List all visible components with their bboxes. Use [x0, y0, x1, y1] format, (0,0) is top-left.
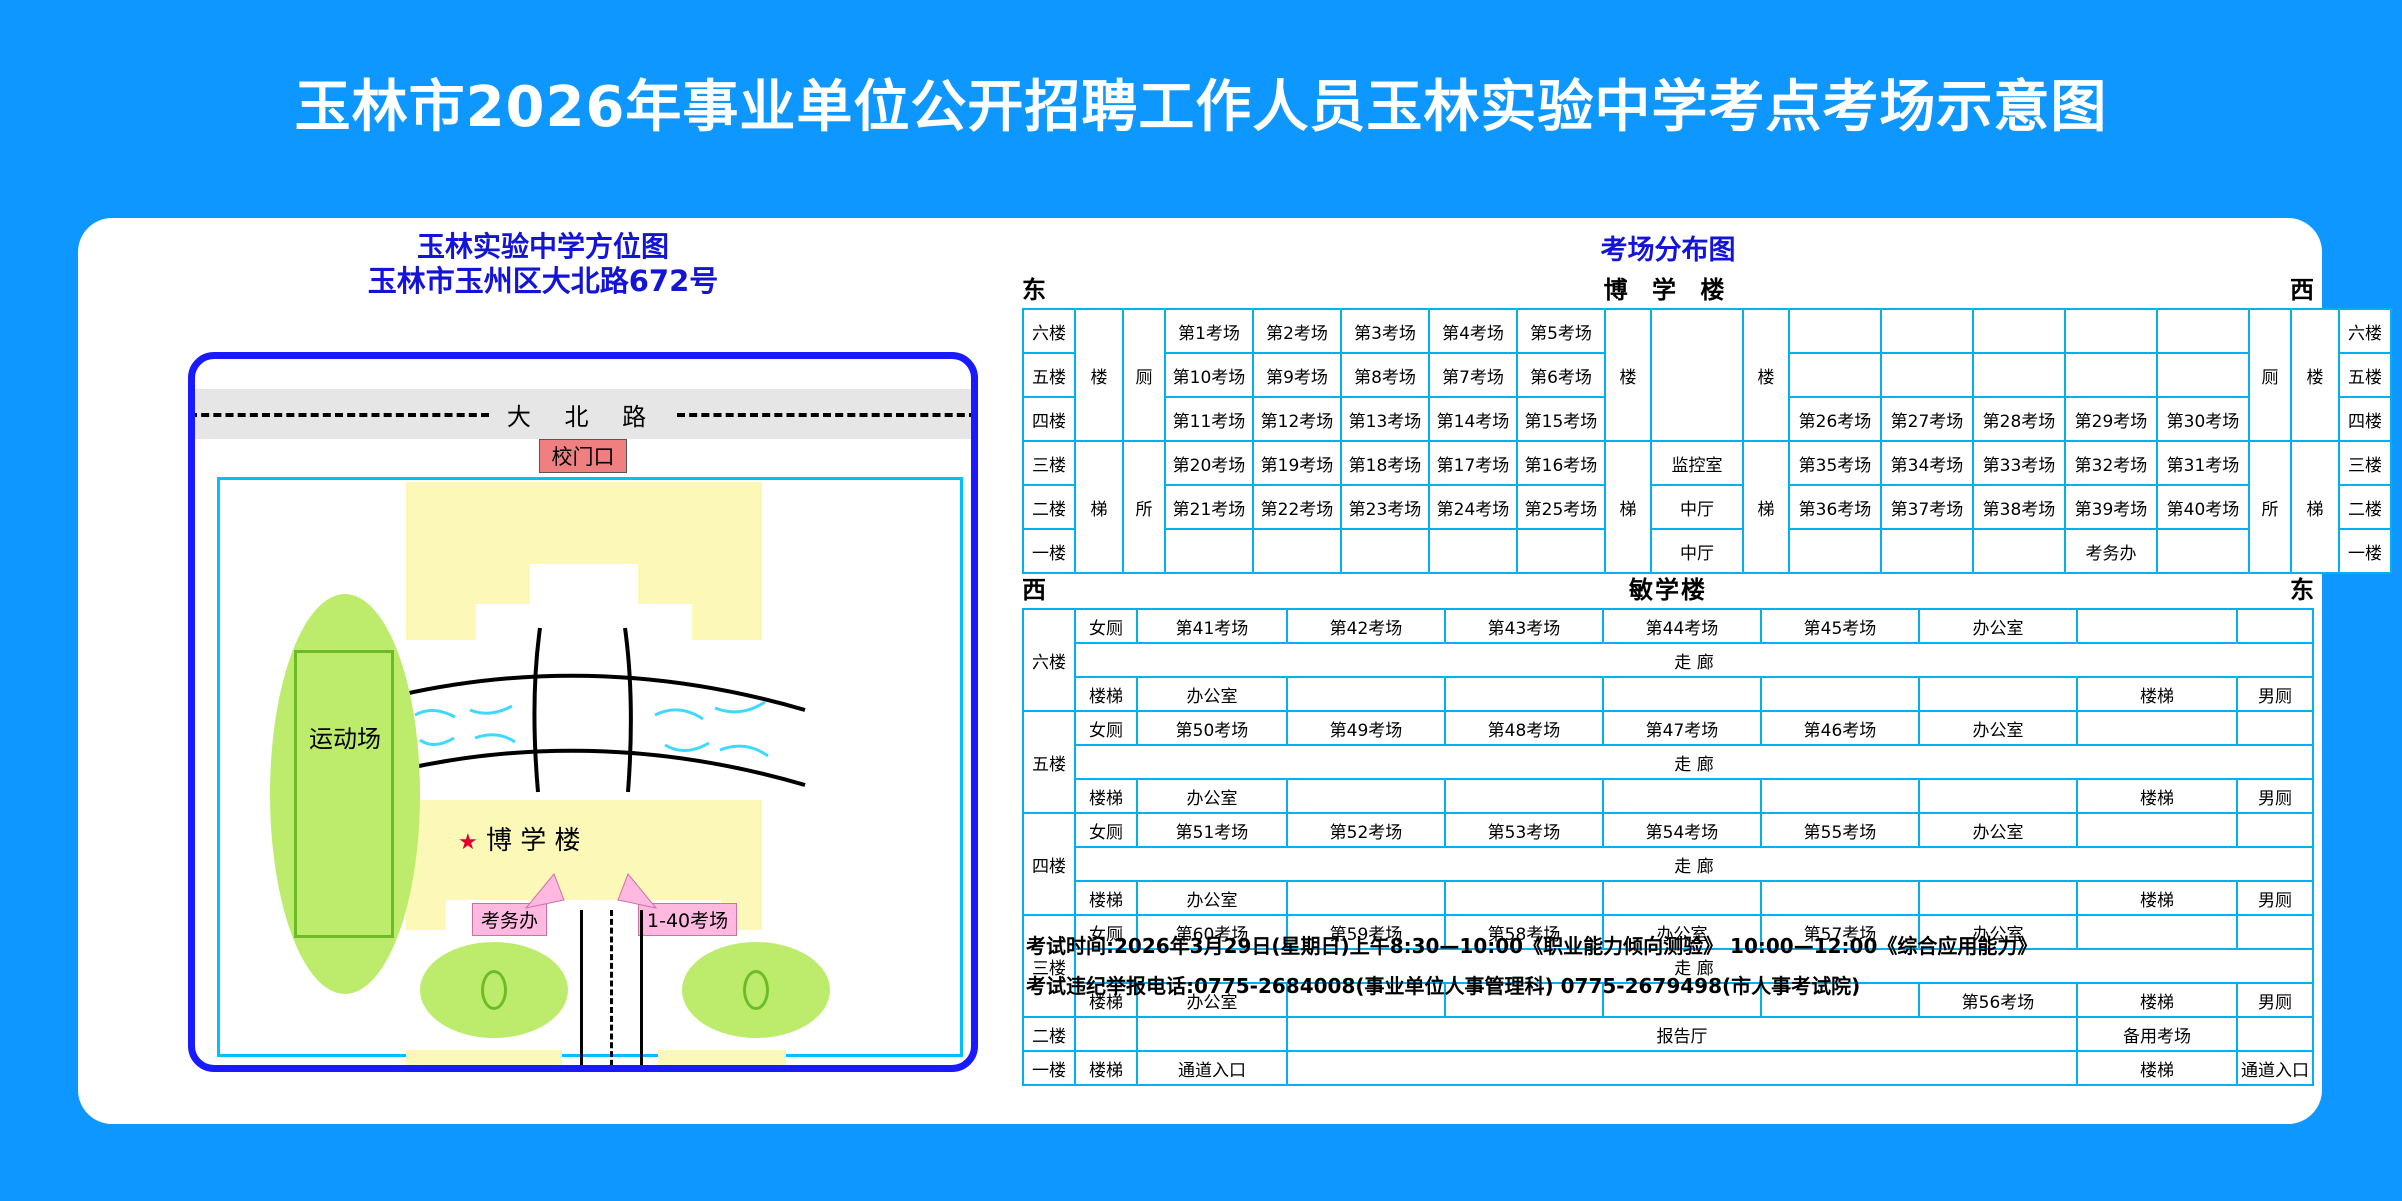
- boxue-floor-label-right: 六楼: [2339, 309, 2391, 353]
- boxue-room-cell: [1881, 529, 1973, 573]
- callout-kaowuban: 考务办: [472, 903, 547, 936]
- boxue-room-cell: 第18考场: [1341, 441, 1429, 485]
- minxue-back-cell: [1287, 779, 1445, 813]
- minxue-entrance-right: 通道入口: [2237, 1051, 2313, 1085]
- boxue-floor-label-left: 三楼: [1023, 441, 1075, 485]
- minxue-corridor-cell: 走 廊: [1075, 847, 2313, 881]
- boxue-room-cell: 第36考场: [1789, 485, 1881, 529]
- boxue-room-cell: 考务办: [2065, 529, 2157, 573]
- minxue-back-cell: [1919, 677, 2077, 711]
- boxue-room-cell: [2157, 309, 2249, 353]
- boxue-room-cell: [2157, 353, 2249, 397]
- boxue-room-cell: 第12考场: [1253, 397, 1341, 441]
- boxue-room-cell: 第13考场: [1341, 397, 1429, 441]
- boxue-room-cell: 第2考场: [1253, 309, 1341, 353]
- boxue-restroom-left: 所: [1123, 441, 1165, 573]
- boxue-room-cell: 第32考场: [2065, 441, 2157, 485]
- page-title: 玉林市2026年事业单位公开招聘工作人员玉林实验中学考点考场示意图: [0, 62, 2402, 143]
- minxue-floor-label: 二楼: [1023, 1017, 1075, 1051]
- minxue-back-cell: [1445, 677, 1603, 711]
- boxue-building-label: 博 学 楼: [1018, 270, 2318, 305]
- boxue-room-cell: 第7考场: [1429, 353, 1517, 397]
- boxue-room-cell: 第27考场: [1881, 397, 1973, 441]
- star-icon-boxue: ★: [458, 830, 478, 855]
- garden-oval-left: [420, 942, 568, 1038]
- building-block-south-left: [406, 1050, 562, 1072]
- minxue-room-cell: [2077, 915, 2237, 949]
- minxue-blank-cell: [1287, 1051, 2077, 1085]
- minxue-back-cell: 楼梯: [1075, 779, 1137, 813]
- minxue-back-cell: [1603, 677, 1761, 711]
- sports-field-inner: [294, 650, 394, 938]
- minxue-room-cell: 第46考场: [1761, 711, 1919, 745]
- minxue-building-label: 敏学楼: [1018, 570, 2318, 605]
- minxue-back-cell: 男厕: [2237, 677, 2313, 711]
- boxue-central-room: 中厅: [1651, 485, 1743, 529]
- boxue-floor-label-right: 三楼: [2339, 441, 2391, 485]
- boxue-room-cell: 第40考场: [2157, 485, 2249, 529]
- left-heading-line1: 玉林实验中学方位图: [78, 230, 1008, 264]
- minxue-room-cell: 第52考场: [1287, 813, 1445, 847]
- minxue-room-cell: [2237, 915, 2313, 949]
- minxue-back-cell: [1761, 881, 1919, 915]
- minxue-back-cell: 男厕: [2237, 779, 2313, 813]
- boxue-stairs-mid: 楼: [1605, 309, 1651, 441]
- minxue-room-cell: [2077, 813, 2237, 847]
- minxue-auditorium-cell: 报告厅: [1287, 1017, 2077, 1051]
- boxue-room-cell: [1789, 353, 1881, 397]
- boxue-room-cell: [1341, 529, 1429, 573]
- boxue-floor-label-left: 二楼: [1023, 485, 1075, 529]
- boxue-room-cell: [1253, 529, 1341, 573]
- minxue-stairs-right: 楼梯: [2077, 1051, 2237, 1085]
- boxue-stairs-left: 楼: [1075, 309, 1123, 441]
- minxue-room-cell: 第50考场: [1137, 711, 1287, 745]
- boxue-room-cell: 第38考场: [1973, 485, 2065, 529]
- right-panel: 考场分布图 东 博 学 楼 西 六楼楼厕第1考场第2考场第3考场第4考场第5考场…: [1018, 218, 2318, 1124]
- boxue-central-room: 监控室: [1651, 441, 1743, 485]
- minxue-back-cell: 男厕: [2237, 881, 2313, 915]
- boxue-room-cell: 第5考场: [1517, 309, 1605, 353]
- minxue-room-cell: 第48考场: [1445, 711, 1603, 745]
- campus-road-left-edge: [580, 910, 583, 1072]
- boxue-room-cell: [1789, 309, 1881, 353]
- campus-road-right-edge: [640, 910, 643, 1072]
- minxue-corridor-row: 走 廊: [1023, 643, 2313, 677]
- minxue-floor1-row: 一楼楼梯通道入口楼梯通道入口: [1023, 1051, 2313, 1085]
- left-heading-line2: 玉林市玉州区大北路672号: [78, 264, 1008, 298]
- minxue-room-cell: 女厕: [1075, 711, 1137, 745]
- boxue-room-cell: 第35考场: [1789, 441, 1881, 485]
- boxue-room-cell: 第8考场: [1341, 353, 1429, 397]
- boxue-floor-label-right: 五楼: [2339, 353, 2391, 397]
- boxue-room-cell: 第34考场: [1881, 441, 1973, 485]
- boxue-room-cell: 第10考场: [1165, 353, 1253, 397]
- boxue-floor-row: 一楼中厅考务办一楼: [1023, 529, 2391, 573]
- building-block-north-wing-right: [638, 564, 698, 604]
- minxue-blank-cell: [2237, 1017, 2313, 1051]
- content-card: 玉林实验中学方位图 玉林市玉州区大北路672号 大 北 路 校门口: [78, 218, 2322, 1124]
- minxue-back-cell: [1919, 881, 2077, 915]
- minxue-back-cell: 楼梯: [1075, 677, 1137, 711]
- boxue-central-empty: [1651, 309, 1743, 441]
- minxue-room-cell: [2237, 609, 2313, 643]
- minxue-back-row: 楼梯办公室楼梯男厕: [1023, 779, 2313, 813]
- garden-ring-left: [481, 970, 507, 1010]
- boxue-restroom-right: 所: [2249, 441, 2291, 573]
- school-gate-label: 校门口: [539, 439, 627, 473]
- boxue-room-cell: 第4考场: [1429, 309, 1517, 353]
- boxue-room-cell: [1165, 529, 1253, 573]
- building-block-north-wing-left: [470, 564, 530, 604]
- boxue-room-cell: 第29考场: [2065, 397, 2157, 441]
- minxue-floor-label: 五楼: [1023, 711, 1075, 813]
- boxue-room-cell: [2065, 309, 2157, 353]
- sports-field: 运动场: [270, 594, 420, 994]
- boxue-room-cell: 第20考场: [1165, 441, 1253, 485]
- minxue-room-cell: 第44考场: [1603, 609, 1761, 643]
- boxue-direction-right: 西: [2290, 270, 2314, 305]
- road-label: 大 北 路: [195, 389, 971, 439]
- minxue-back-cell: [1287, 677, 1445, 711]
- boxue-room-cell: 第28考场: [1973, 397, 2065, 441]
- minxue-back-cell: [1445, 779, 1603, 813]
- minxue-back-cell: 楼梯: [2077, 779, 2237, 813]
- minxue-floor-label: 一楼: [1023, 1051, 1075, 1085]
- minxue-floor-label: 四楼: [1023, 813, 1075, 915]
- boxue-room-cell: 第33考场: [1973, 441, 2065, 485]
- boxue-room-cell: 第39考场: [2065, 485, 2157, 529]
- minxue-back-cell: 男厕: [2237, 983, 2313, 1017]
- sports-field-label: 运动场: [270, 724, 420, 755]
- landscape-decoration: [390, 620, 810, 800]
- footer-exam-time: 考试时间:2026年3月29日(星期日)上午8:30—10:00《职业能力倾向测…: [1026, 930, 2037, 959]
- building-block-north-top: [406, 482, 762, 564]
- campus-boundary: ★ 博 学 楼 考务办 1-40考场 运动场: [217, 477, 963, 1057]
- minxue-floor2-row: 二楼报告厅备用考场: [1023, 1017, 2313, 1051]
- minxue-back-cell: [1603, 779, 1761, 813]
- minxue-blank-cell: [1075, 1017, 1137, 1051]
- minxue-back-cell: [1445, 881, 1603, 915]
- minxue-back-cell: 楼梯: [1075, 881, 1137, 915]
- boxue-floor-label-left: 五楼: [1023, 353, 1075, 397]
- boxue-room-cell: [1881, 353, 1973, 397]
- boxue-room-cell: [1973, 529, 2065, 573]
- minxue-direction-right: 东: [2290, 570, 2314, 605]
- boxue-room-cell: [1881, 309, 1973, 353]
- minxue-spare-room-cell: 备用考场: [2077, 1017, 2237, 1051]
- boxue-room-cell: 第6考场: [1517, 353, 1605, 397]
- boxue-room-cell: [2065, 353, 2157, 397]
- building-boxue-text: 博 学 楼: [486, 826, 581, 856]
- minxue-back-cell: 第56考场: [1919, 983, 2077, 1017]
- minxue-front-row: 五楼女厕第50考场第49考场第48考场第47考场第46考场办公室: [1023, 711, 2313, 745]
- building-block-south-right: [658, 1050, 786, 1072]
- minxue-back-row: 楼梯办公室楼梯男厕: [1023, 677, 2313, 711]
- boxue-floor-label-left: 六楼: [1023, 309, 1075, 353]
- minxue-room-cell: [2077, 609, 2237, 643]
- boxue-floor-label-left: 四楼: [1023, 397, 1075, 441]
- boxue-stairs-right-mid: 楼: [1743, 309, 1789, 441]
- minxue-back-cell: 楼梯: [2077, 677, 2237, 711]
- boxue-room-cell: 第24考场: [1429, 485, 1517, 529]
- boxue-room-cell: 第15考场: [1517, 397, 1605, 441]
- road-band: 大 北 路: [195, 389, 971, 439]
- minxue-corridor-cell: 走 廊: [1075, 643, 2313, 677]
- boxue-floor-row: 三楼梯所第20考场第19考场第18考场第17考场第16考场梯监控室梯第35考场第…: [1023, 441, 2391, 485]
- boxue-stairs-right-mid: 梯: [1743, 441, 1789, 573]
- boxue-room-cell: 第37考场: [1881, 485, 1973, 529]
- minxue-room-cell: 第42考场: [1287, 609, 1445, 643]
- minxue-entrance-left: 通道入口: [1137, 1051, 1287, 1085]
- minxue-back-cell: 办公室: [1137, 779, 1287, 813]
- boxue-room-cell: 第19考场: [1253, 441, 1341, 485]
- minxue-back-cell: [1761, 779, 1919, 813]
- boxue-room-cell: [1429, 529, 1517, 573]
- minxue-stairs-left: 楼梯: [1075, 1051, 1137, 1085]
- minxue-room-cell: 第47考场: [1603, 711, 1761, 745]
- minxue-blank-cell: [1137, 1017, 1287, 1051]
- minxue-room-cell: 办公室: [1919, 711, 2077, 745]
- boxue-room-cell: 第31考场: [2157, 441, 2249, 485]
- minxue-room-cell: 女厕: [1075, 609, 1137, 643]
- minxue-room-cell: 第51考场: [1137, 813, 1287, 847]
- boxue-floor-row: 六楼楼厕第1考场第2考场第3考场第4考场第5考场楼楼厕楼六楼: [1023, 309, 2391, 353]
- minxue-room-cell: 第54考场: [1603, 813, 1761, 847]
- page-root: 玉林市2026年事业单位公开招聘工作人员玉林实验中学考点考场示意图 玉林实验中学…: [0, 0, 2402, 1201]
- minxue-room-cell: [2237, 711, 2313, 745]
- boxue-room-cell: 第9考场: [1253, 353, 1341, 397]
- minxue-back-cell: 楼梯: [2077, 881, 2237, 915]
- minxue-back-row: 楼梯办公室楼梯男厕: [1023, 881, 2313, 915]
- boxue-room-cell: 第30考场: [2157, 397, 2249, 441]
- boxue-room-cell: [2157, 529, 2249, 573]
- minxue-room-cell: 第53考场: [1445, 813, 1603, 847]
- minxue-back-cell: [1919, 779, 2077, 813]
- minxue-room-cell: 办公室: [1919, 609, 2077, 643]
- boxue-room-cell: 第3考场: [1341, 309, 1429, 353]
- boxue-room-cell: 第21考场: [1165, 485, 1253, 529]
- boxue-room-cell: [1973, 309, 2065, 353]
- minxue-room-cell: 第41考场: [1137, 609, 1287, 643]
- minxue-back-cell: 办公室: [1137, 677, 1287, 711]
- boxue-room-cell: 第23考场: [1341, 485, 1429, 529]
- footer-report-phone: 考试违纪举报电话:0775-2684008(事业单位人事管理科) 0775-26…: [1026, 970, 1860, 999]
- boxue-floor-label-right: 二楼: [2339, 485, 2391, 529]
- boxue-room-cell: 第14考场: [1429, 397, 1517, 441]
- boxue-stairs-right: 梯: [2291, 441, 2339, 573]
- boxue-room-cell: 第22考场: [1253, 485, 1341, 529]
- minxue-room-cell: 办公室: [1919, 813, 2077, 847]
- minxue-room-cell: [2237, 813, 2313, 847]
- minxue-back-cell: [1761, 677, 1919, 711]
- minxue-corridor-cell: 走 廊: [1075, 745, 2313, 779]
- boxue-room-cell: [1789, 529, 1881, 573]
- minxue-room-cell: 第55考场: [1761, 813, 1919, 847]
- boxue-central-room: 中厅: [1651, 529, 1743, 573]
- minxue-room-cell: 第43考场: [1445, 609, 1603, 643]
- minxue-room-cell: 女厕: [1075, 813, 1137, 847]
- boxue-floor-label-left: 一楼: [1023, 529, 1075, 573]
- minxue-room-cell: 第49考场: [1287, 711, 1445, 745]
- boxue-restroom-left: 厕: [1123, 309, 1165, 441]
- minxue-front-row: 四楼女厕第51考场第52考场第53考场第54考场第55考场办公室: [1023, 813, 2313, 847]
- building-boxue-wing-left: [406, 900, 446, 930]
- minxue-corridor-row: 走 廊: [1023, 745, 2313, 779]
- boxue-room-cell: [1973, 353, 2065, 397]
- boxue-floor-row: 二楼第21考场第22考场第23考场第24考场第25考场中厅第36考场第37考场第…: [1023, 485, 2391, 529]
- boxue-room-cell: [1517, 529, 1605, 573]
- garden-ring-right: [743, 970, 769, 1010]
- garden-oval-right: [682, 942, 830, 1038]
- minxue-corridor-row: 走 廊: [1023, 847, 2313, 881]
- boxue-floor-label-right: 四楼: [2339, 397, 2391, 441]
- boxue-room-cell: 第16考场: [1517, 441, 1605, 485]
- building-boxue-label: ★ 博 学 楼: [458, 820, 581, 857]
- boxue-stairs-left: 梯: [1075, 441, 1123, 573]
- boxue-floor-table: 六楼楼厕第1考场第2考场第3考场第4考场第5考场楼楼厕楼六楼五楼第10考场第9考…: [1022, 308, 2392, 574]
- callout-rooms-1-40: 1-40考场: [638, 903, 737, 936]
- boxue-room-cell: 第1考场: [1165, 309, 1253, 353]
- minxue-back-cell: [1603, 881, 1761, 915]
- minxue-floor-table: 六楼女厕第41考场第42考场第43考场第44考场第45考场办公室走 廊楼梯办公室…: [1022, 608, 2314, 1086]
- section-title-exam-layout: 考场分布图: [1018, 228, 2318, 267]
- boxue-room-cell: 第25考场: [1517, 485, 1605, 529]
- minxue-front-row: 六楼女厕第41考场第42考场第43考场第44考场第45考场办公室: [1023, 609, 2313, 643]
- campus-road-center-line: [610, 910, 613, 1072]
- minxue-room-cell: [2077, 711, 2237, 745]
- boxue-restroom-right: 厕: [2249, 309, 2291, 441]
- minxue-back-cell: 办公室: [1137, 881, 1287, 915]
- minxue-floor-label: 六楼: [1023, 609, 1075, 711]
- boxue-stairs-right: 楼: [2291, 309, 2339, 441]
- minxue-back-cell: 楼梯: [2077, 983, 2237, 1017]
- boxue-room-cell: 第11考场: [1165, 397, 1253, 441]
- minxue-back-cell: [1287, 881, 1445, 915]
- boxue-room-cell: 第17考场: [1429, 441, 1517, 485]
- left-panel-heading: 玉林实验中学方位图 玉林市玉州区大北路672号: [78, 230, 1008, 298]
- boxue-floor-label-right: 一楼: [2339, 529, 2391, 573]
- boxue-stairs-mid: 梯: [1605, 441, 1651, 573]
- boxue-room-cell: 第26考场: [1789, 397, 1881, 441]
- minxue-room-cell: 第45考场: [1761, 609, 1919, 643]
- campus-map: 大 北 路 校门口: [188, 352, 978, 1072]
